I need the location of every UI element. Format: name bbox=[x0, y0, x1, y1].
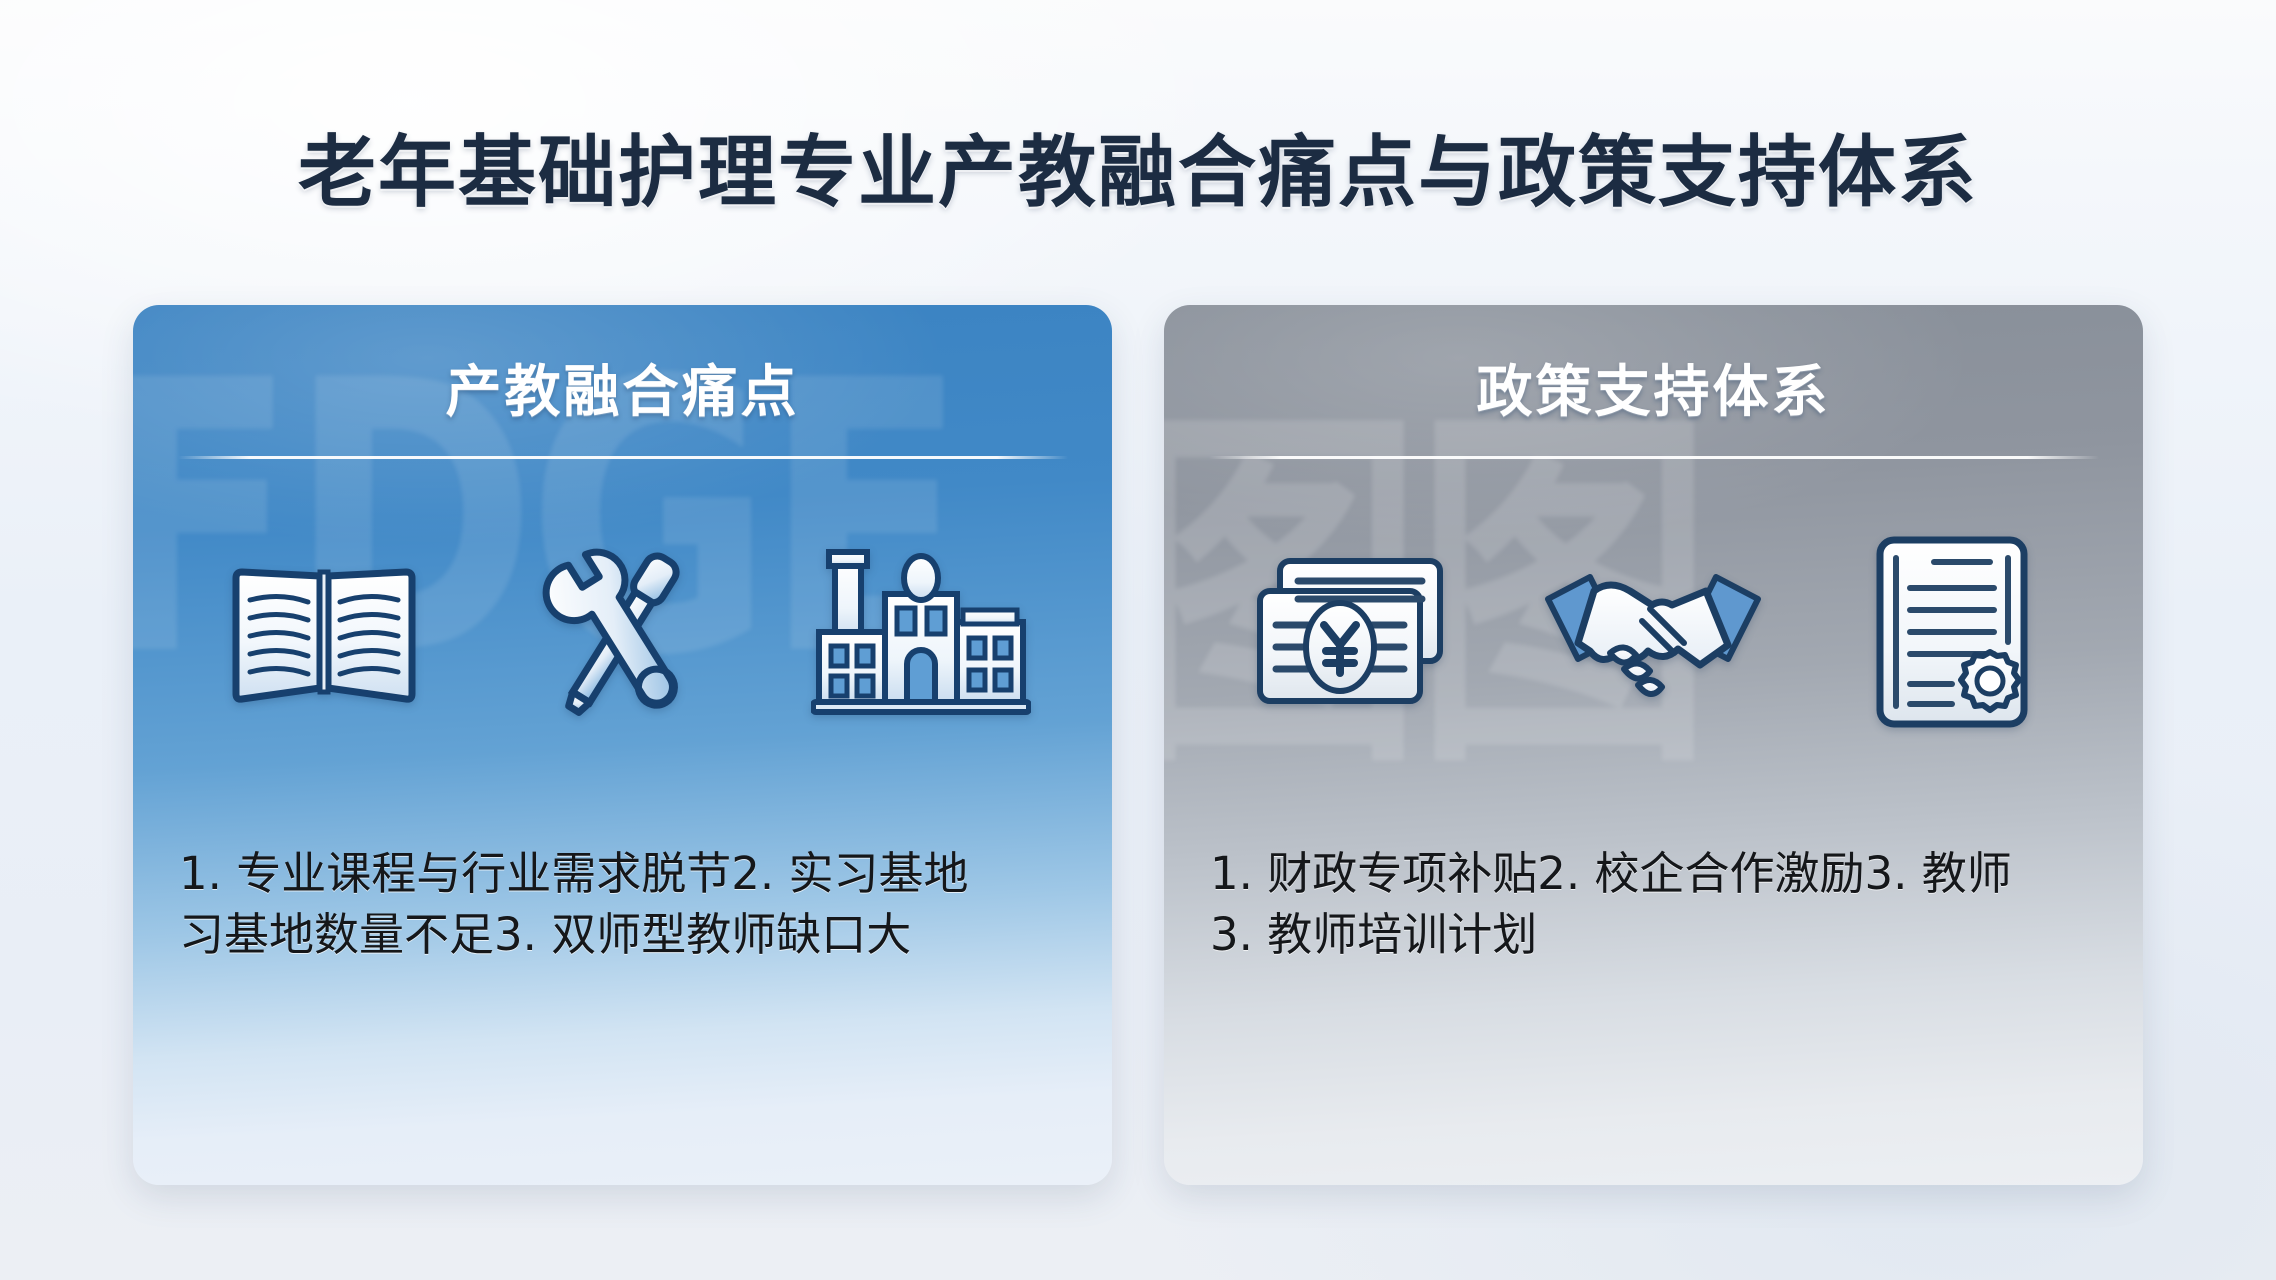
card-header-pain-points: 产教融合痛点 bbox=[133, 305, 1112, 428]
body-line: 1. 财政专项补贴2. 校企合作激励3. 教师 bbox=[1210, 843, 2097, 904]
slide-canvas: FDGE 图图 老年基础护理专业产教融合痛点与政策支持体系 FDGE 产教融合痛… bbox=[0, 0, 2276, 1280]
tools-icon bbox=[497, 537, 747, 727]
card-pain-points[interactable]: FDGE 产教融合痛点 bbox=[133, 305, 1112, 1185]
card-body-policy-support: 1. 财政专项补贴2. 校企合作激励3. 教师 3. 教师培训计划 bbox=[1164, 843, 2143, 965]
card-header-policy-support: 政策支持体系 bbox=[1164, 305, 2143, 428]
money-document-icon bbox=[1230, 547, 1480, 717]
body-line: 3. 教师培训计划 bbox=[1210, 904, 2097, 965]
certificate-icon bbox=[1827, 532, 2077, 732]
card-divider bbox=[178, 456, 1068, 459]
handshake-icon bbox=[1528, 547, 1778, 717]
icon-row-pain-points bbox=[133, 517, 1112, 747]
open-book-icon bbox=[199, 552, 449, 712]
card-row: FDGE 产教融合痛点 bbox=[133, 305, 2143, 1185]
body-line: 1. 专业课程与行业需求脱节2. 实习基地 bbox=[179, 843, 1066, 904]
card-policy-support[interactable]: 图图 政策支持体系 bbox=[1164, 305, 2143, 1185]
body-line: 习基地数量不足3. 双师型教师缺口大 bbox=[179, 904, 1066, 965]
page-title: 老年基础护理专业产教融合痛点与政策支持体系 bbox=[0, 110, 2276, 222]
icon-row-policy-support bbox=[1164, 517, 2143, 747]
factory-icon bbox=[796, 542, 1046, 722]
card-body-pain-points: 1. 专业课程与行业需求脱节2. 实习基地 习基地数量不足3. 双师型教师缺口大 bbox=[133, 843, 1112, 965]
card-divider bbox=[1209, 456, 2099, 459]
